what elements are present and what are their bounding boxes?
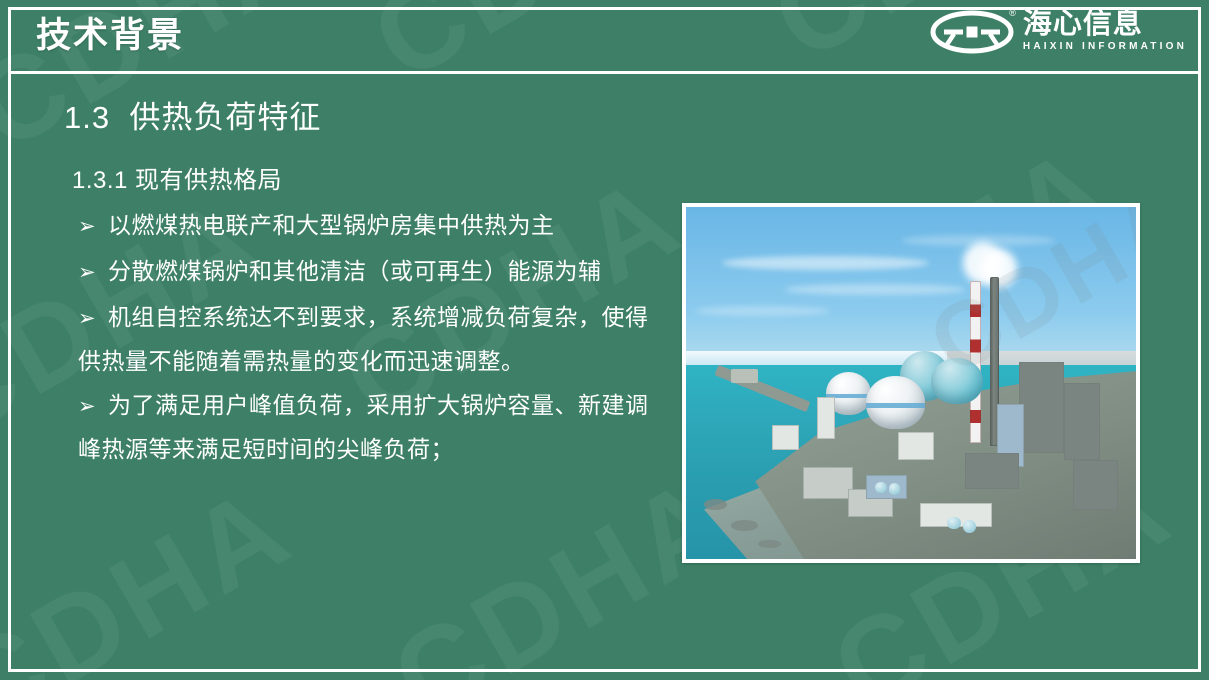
sub-section-title: 1.3.1 现有供热格局 [72, 160, 282, 195]
power-plant-photo: CDHA [686, 207, 1136, 559]
plant-building [1019, 362, 1064, 454]
plant-building [772, 425, 799, 450]
slide-root: CDHA CDHA CDHA CDHA CDHA CDHA CDHA CDHA … [0, 0, 1209, 680]
storage-tank [963, 520, 977, 533]
logo-name-cn: 海心信息 [1023, 9, 1187, 39]
list-item: ➢分散燃煤锅炉和其他清洁（或可再生）能源为辅 [78, 250, 663, 294]
list-item-text: 为了满足用户峰值负荷，采用扩大锅炉容量、新建调峰热源等来满足短时间的尖峰负荷； [78, 392, 649, 462]
list-item-text: 机组自控系统达不到要求，系统增减负荷复杂，使得供热量不能随着需热量的变化而迅速调… [78, 304, 649, 374]
logo-name-en: HAIXIN INFORMATION [1023, 40, 1187, 54]
haixin-emblem-icon: ® [930, 10, 1014, 54]
header-divider [8, 71, 1201, 74]
bullet-arrow-icon: ➢ [78, 386, 108, 428]
bullet-arrow-icon: ➢ [78, 252, 108, 294]
jetty-head [731, 369, 758, 383]
list-item: ➢为了满足用户峰值负荷，采用扩大锅炉容量、新建调峰热源等来满足短时间的尖峰负荷； [78, 384, 663, 470]
plant-building [965, 453, 1019, 488]
plant-building [817, 397, 835, 439]
registered-mark-icon: ® [1009, 9, 1016, 18]
storage-dome [866, 376, 925, 429]
list-item: ➢以燃煤热电联产和大型锅炉房集中供热为主 [78, 204, 663, 248]
storage-tank [947, 517, 961, 530]
plant-building [898, 432, 934, 460]
logo-text-group: 海心信息 HAIXIN INFORMATION [1023, 9, 1187, 54]
list-item-text: 分散燃煤锅炉和其他清洁（或可再生）能源为辅 [108, 258, 602, 284]
power-plant-photo-frame: CDHA [682, 203, 1140, 563]
page-title: 技术背景 [36, 15, 184, 57]
plant-building [1064, 383, 1100, 460]
plant-building [1073, 460, 1118, 509]
storage-tank [889, 483, 901, 494]
bullet-arrow-icon: ➢ [78, 206, 108, 248]
plant-building [803, 467, 853, 499]
list-item-text: 以燃煤热电联产和大型锅炉房集中供热为主 [108, 212, 555, 238]
slide-body: 1.3 供热负荷特征 1.3.1 现有供热格局 ➢以燃煤热电联产和大型锅炉房集中… [0, 76, 1209, 668]
storage-dome [931, 358, 983, 404]
storage-tank [875, 482, 887, 493]
list-item: ➢机组自控系统达不到要求，系统增减负荷复杂，使得供热量不能随着需热量的变化而迅速… [78, 296, 663, 382]
company-logo: ® 海心信息 HAIXIN INFORMATION [930, 9, 1187, 61]
bullet-arrow-icon: ➢ [78, 298, 108, 340]
bullet-list: ➢以燃煤热电联产和大型锅炉房集中供热为主 ➢分散燃煤锅炉和其他清洁（或可再生）能… [78, 204, 663, 472]
section-title: 1.3 供热负荷特征 [64, 92, 321, 137]
